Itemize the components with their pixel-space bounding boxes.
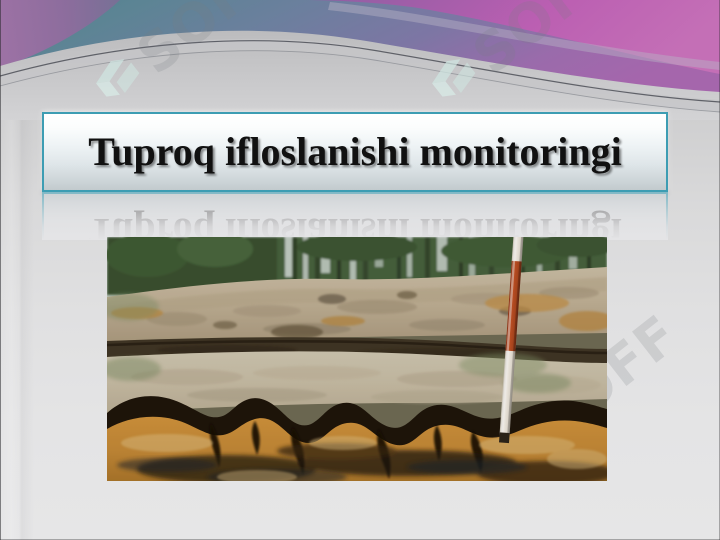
soil-profile-illustration [107,237,607,481]
page-title: Tuproq ifloslanishi monitoringi [88,132,622,172]
soil-profile-photo [107,237,607,481]
slide-title-box: Tuproq ifloslanishi monitoringi [42,112,668,192]
slide-header-decoration [0,0,720,120]
presentation-slide: SOFF SOFF SOFF SOFF [0,0,720,540]
